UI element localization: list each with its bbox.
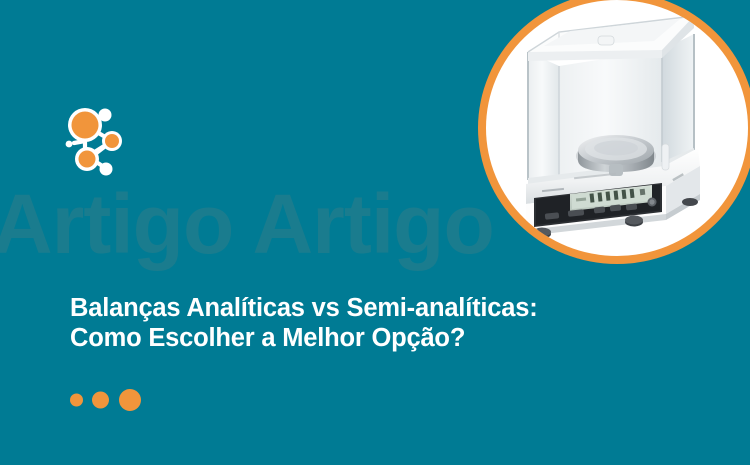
decorative-dot-2 bbox=[92, 392, 109, 409]
logo-node-large bbox=[72, 112, 99, 139]
article-banner: Artigo Artigo bbox=[0, 0, 750, 465]
logo-node-lower bbox=[79, 151, 96, 168]
decorative-dot-1 bbox=[70, 394, 83, 407]
badge-white-disc bbox=[486, 0, 748, 256]
molecule-network-logo bbox=[60, 103, 142, 185]
logo-node-dot-bottom bbox=[100, 163, 113, 176]
logo-node-mid bbox=[105, 134, 119, 148]
decorative-dots bbox=[70, 384, 180, 416]
page-title: Balanças Analíticas vs Semi-analíticas: … bbox=[70, 293, 690, 353]
page-title-line-2: Como Escolher a Melhor Opção? bbox=[70, 323, 690, 353]
hero-image-badge bbox=[478, 0, 750, 264]
logo-node-dot-left bbox=[66, 141, 73, 148]
decorative-dot-3 bbox=[119, 389, 141, 411]
page-title-line-1: Balanças Analíticas vs Semi-analíticas: bbox=[70, 293, 690, 323]
analytical-balance-illustration bbox=[512, 8, 717, 248]
logo-node-dot-top bbox=[99, 109, 112, 122]
